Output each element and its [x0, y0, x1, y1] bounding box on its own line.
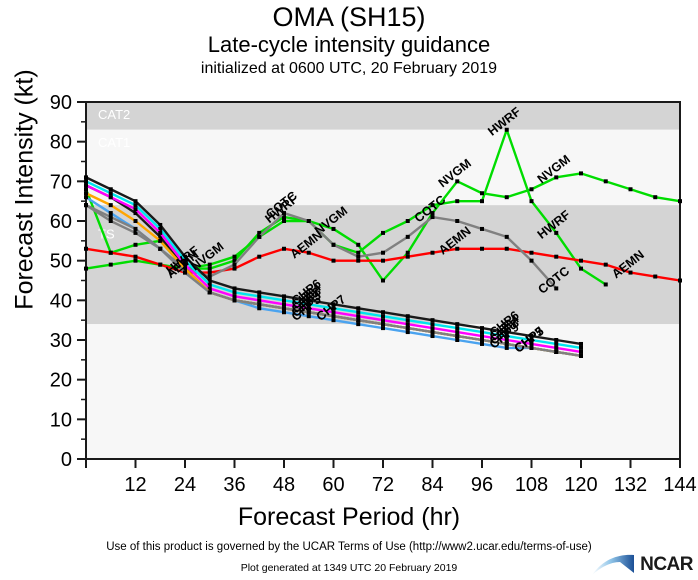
series-point: [431, 334, 435, 338]
y-axis-title: Forecast Intensity (kt): [11, 10, 40, 370]
series-point: [530, 199, 534, 203]
x-axis-title: Forecast Period (hr): [0, 503, 698, 532]
series-point: [381, 259, 385, 263]
series-point: [84, 195, 88, 199]
series-point: [554, 255, 558, 259]
x-tick-label: 144: [663, 474, 696, 496]
series-point: [554, 346, 558, 350]
series-point: [282, 294, 286, 298]
x-tick-label: 132: [614, 474, 647, 496]
series-point: [208, 267, 212, 271]
series-point: [257, 294, 261, 298]
plot-area: CAT2CAT1TS HWRFHWRFHWRFHWRFNVGMNVGMNVGMN…: [0, 0, 698, 580]
series-point: [579, 346, 583, 350]
series-point: [282, 219, 286, 223]
series-point: [480, 342, 484, 346]
x-tick-label: 48: [273, 474, 295, 496]
series-point: [109, 187, 113, 191]
y-tick-label: 10: [50, 409, 72, 431]
x-tick-label: 72: [372, 474, 394, 496]
series-point: [257, 306, 261, 310]
series-point: [208, 271, 212, 275]
series-point: [109, 203, 113, 207]
x-axis-tick-labels: 1224364860728496108120132144: [124, 474, 696, 496]
series-point: [480, 227, 484, 231]
series-point: [356, 306, 360, 310]
series-point: [455, 322, 459, 326]
series-point: [257, 255, 261, 259]
series-point: [381, 318, 385, 322]
series-point: [604, 263, 608, 267]
series-point: [480, 199, 484, 203]
series-point: [356, 251, 360, 255]
series-point: [381, 322, 385, 326]
series-point: [530, 187, 534, 191]
series-point: [233, 267, 237, 271]
series-point: [604, 282, 608, 286]
series-point: [406, 318, 410, 322]
series-point: [381, 310, 385, 314]
series-point: [455, 330, 459, 334]
series-point: [134, 243, 138, 247]
series-point: [282, 247, 286, 251]
series-point: [505, 247, 509, 251]
y-tick-label: 90: [50, 92, 72, 114]
series-point: [158, 247, 162, 251]
series-point: [356, 243, 360, 247]
series-point: [604, 179, 608, 183]
series-point: [158, 231, 162, 235]
series-point: [455, 219, 459, 223]
y-tick-label: 40: [50, 290, 72, 312]
series-point: [257, 235, 261, 239]
series-point: [480, 191, 484, 195]
y-axis-tick-labels: 0102030405060708090: [50, 92, 72, 471]
series-point: [356, 322, 360, 326]
series-point: [629, 187, 633, 191]
series-point: [109, 195, 113, 199]
series-point: [530, 259, 534, 263]
series-point: [579, 171, 583, 175]
series-point: [233, 298, 237, 302]
series-point: [134, 199, 138, 203]
series-point: [332, 259, 336, 263]
series-point: [233, 263, 237, 267]
series-point: [282, 298, 286, 302]
band-label-cat1: CAT1: [98, 135, 130, 150]
band-cat2: [86, 102, 680, 130]
series-point: [579, 259, 583, 263]
x-tick-label: 108: [515, 474, 548, 496]
series-point: [579, 354, 583, 358]
series-point: [332, 243, 336, 247]
series-point: [505, 346, 509, 350]
x-tick-label: 120: [564, 474, 597, 496]
series-point: [356, 318, 360, 322]
series-point: [134, 227, 138, 231]
series-point: [257, 298, 261, 302]
series-point: [84, 175, 88, 179]
series-point: [282, 306, 286, 310]
band-cat1: [86, 130, 680, 205]
series-point: [406, 219, 410, 223]
series-point: [554, 338, 558, 342]
series-point: [653, 275, 657, 279]
series-point: [84, 203, 88, 207]
series-point: [356, 310, 360, 314]
x-tick-label: 36: [223, 474, 245, 496]
series-point: [233, 286, 237, 290]
series-point: [406, 330, 410, 334]
series-point: [134, 207, 138, 211]
y-tick-label: 70: [50, 171, 72, 193]
series-point: [579, 267, 583, 271]
ncar-logo: NCAR: [590, 552, 694, 578]
series-point: [406, 255, 410, 259]
series-point: [158, 263, 162, 267]
series-point: [282, 302, 286, 306]
series-point: [109, 263, 113, 267]
series-point: [431, 251, 435, 255]
series-point: [678, 199, 682, 203]
series-point: [84, 179, 88, 183]
series-point: [109, 215, 113, 219]
series-point: [431, 322, 435, 326]
series-point: [84, 187, 88, 191]
series-point: [233, 290, 237, 294]
series-point: [431, 326, 435, 330]
x-tick-label: 60: [322, 474, 344, 496]
series-point: [480, 338, 484, 342]
series-point: [307, 219, 311, 223]
series-point: [282, 310, 286, 314]
series-point: [455, 326, 459, 330]
x-tick-label: 12: [124, 474, 146, 496]
series-point: [134, 203, 138, 207]
band-base: [86, 324, 680, 459]
series-point: [109, 211, 113, 215]
band-label-cat2: CAT2: [98, 107, 130, 122]
series-point: [406, 235, 410, 239]
series-point: [579, 342, 583, 346]
series-point: [455, 338, 459, 342]
series-point: [84, 267, 88, 271]
y-tick-label: 60: [50, 211, 72, 233]
intensity-guidance-chart: CAT2CAT1TS HWRFHWRFHWRFHWRFNVGMNVGMNVGMN…: [0, 0, 698, 500]
series-point: [134, 255, 138, 259]
series-point: [109, 219, 113, 223]
series-point: [381, 251, 385, 255]
series-point: [406, 326, 410, 330]
y-tick-label: 80: [50, 132, 72, 154]
series-point: [480, 330, 484, 334]
series-point: [505, 195, 509, 199]
series-point: [356, 314, 360, 318]
series-point: [208, 290, 212, 294]
series-point: [480, 326, 484, 330]
series-point: [530, 251, 534, 255]
series-point: [233, 294, 237, 298]
y-tick-label: 30: [50, 330, 72, 352]
x-tick-label: 84: [421, 474, 443, 496]
series-point: [505, 235, 509, 239]
series-point: [381, 279, 385, 283]
series-point: [356, 255, 360, 259]
x-tick-label: 24: [174, 474, 196, 496]
series-point: [158, 239, 162, 243]
series-point: [84, 191, 88, 195]
series-point: [431, 330, 435, 334]
series-point: [653, 195, 657, 199]
series-point: [406, 251, 410, 255]
series-point: [455, 334, 459, 338]
series-point: [678, 279, 682, 283]
series-point: [332, 318, 336, 322]
series-point: [381, 314, 385, 318]
series-point: [257, 290, 261, 294]
chart-page: OMA (SH15) Late-cycle intensity guidance…: [0, 0, 698, 580]
series-point: [356, 259, 360, 263]
series-point: [134, 259, 138, 263]
ncar-logo-text: NCAR: [640, 554, 693, 576]
x-tick-label: 96: [471, 474, 493, 496]
y-tick-label: 20: [50, 370, 72, 392]
series-point: [480, 247, 484, 251]
series-point: [406, 322, 410, 326]
series-point: [480, 334, 484, 338]
y-tick-label: 50: [50, 251, 72, 273]
y-tick-label: 0: [61, 449, 72, 471]
series-point: [381, 231, 385, 235]
series-point: [84, 247, 88, 251]
series-point: [431, 318, 435, 322]
series-point: [554, 350, 558, 354]
series-point: [455, 199, 459, 203]
series-point: [381, 326, 385, 330]
series-point: [554, 342, 558, 346]
series-point: [84, 183, 88, 187]
series-point: [257, 302, 261, 306]
series-point: [134, 219, 138, 223]
series-point: [233, 255, 237, 259]
series-point: [109, 191, 113, 195]
series-point: [109, 251, 113, 255]
series-point: [406, 314, 410, 318]
series-point: [579, 350, 583, 354]
